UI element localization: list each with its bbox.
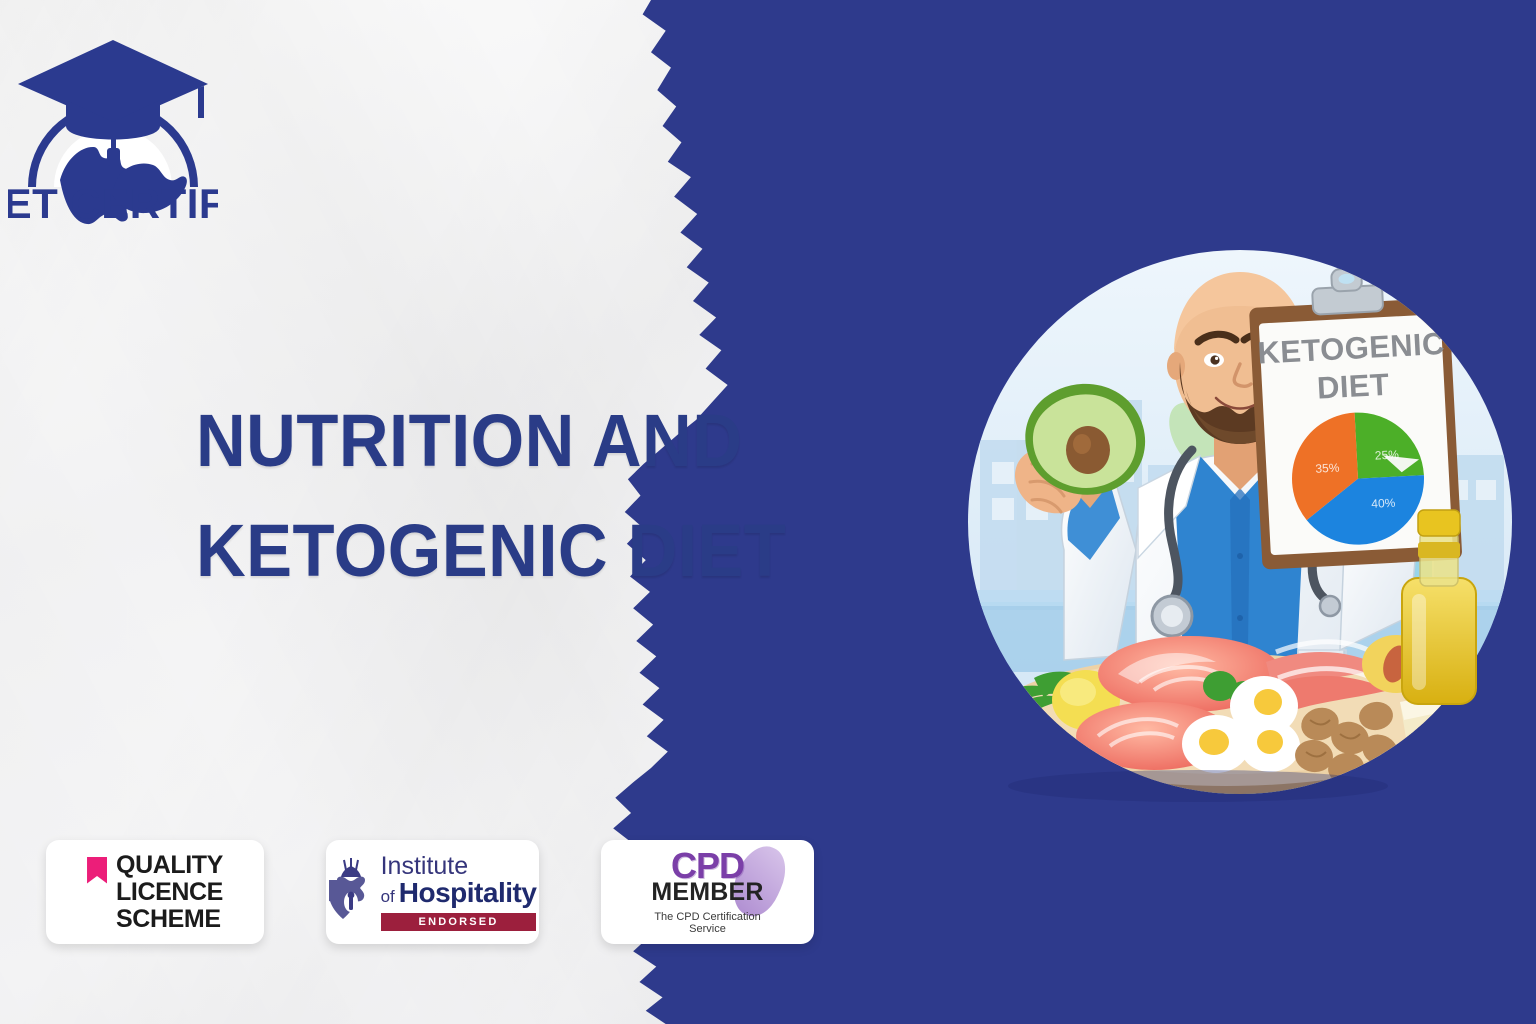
svg-text:40%: 40% — [1371, 496, 1396, 511]
qls-line-1: QUALITY — [116, 852, 223, 879]
ioh-endorsed-ribbon: ENDORSED — [381, 913, 537, 931]
cpd-sub-line-1: The CPD Certification — [633, 911, 783, 923]
accreditation-badges: QUALITY LICENCE SCHEME — [46, 840, 814, 944]
title-line-1: NUTRITION AND — [196, 386, 773, 496]
ioh-line-1: Institute — [381, 854, 469, 878]
qls-line-2: LICENCE — [116, 879, 223, 906]
badge-quality-licence-scheme[interactable]: QUALITY LICENCE SCHEME — [46, 840, 264, 944]
cpd-line-2: MEMBER — [651, 879, 763, 905]
badge-cpd-member[interactable]: CPD MEMBER The CPD Certification Service — [601, 840, 814, 944]
clipboard-title-line-2: DIET — [1316, 367, 1390, 406]
bookmark-icon — [87, 857, 107, 884]
cpd-sub-line-2: Service — [633, 923, 783, 935]
badge-institute-of-hospitality[interactable]: Institute of Hospitality ENDORSED — [326, 840, 539, 944]
ioh-of: of — [381, 887, 395, 907]
page-title: NUTRITION AND KETOGENIC DIET — [196, 386, 816, 606]
get-certify-logo[interactable]: GET CERTIFY — [8, 22, 218, 232]
doctor-keto-illustration: KETOGENIC DIET 25% 40% — [968, 250, 1513, 795]
heraldic-crest-icon — [329, 856, 373, 928]
banner-canvas: GET CERTIFY NUTRITION AND KETOGENIC DIET… — [0, 0, 1536, 1024]
title-line-2: KETOGENIC DIET — [196, 496, 773, 606]
ioh-line-2: Hospitality — [399, 878, 537, 908]
svg-text:35%: 35% — [1315, 461, 1340, 476]
qls-line-3: SCHEME — [116, 906, 223, 933]
avocado-icon — [1025, 384, 1145, 495]
logo-wordmark: GET CERTIFY — [8, 180, 218, 227]
svg-text:25%: 25% — [1374, 447, 1399, 462]
